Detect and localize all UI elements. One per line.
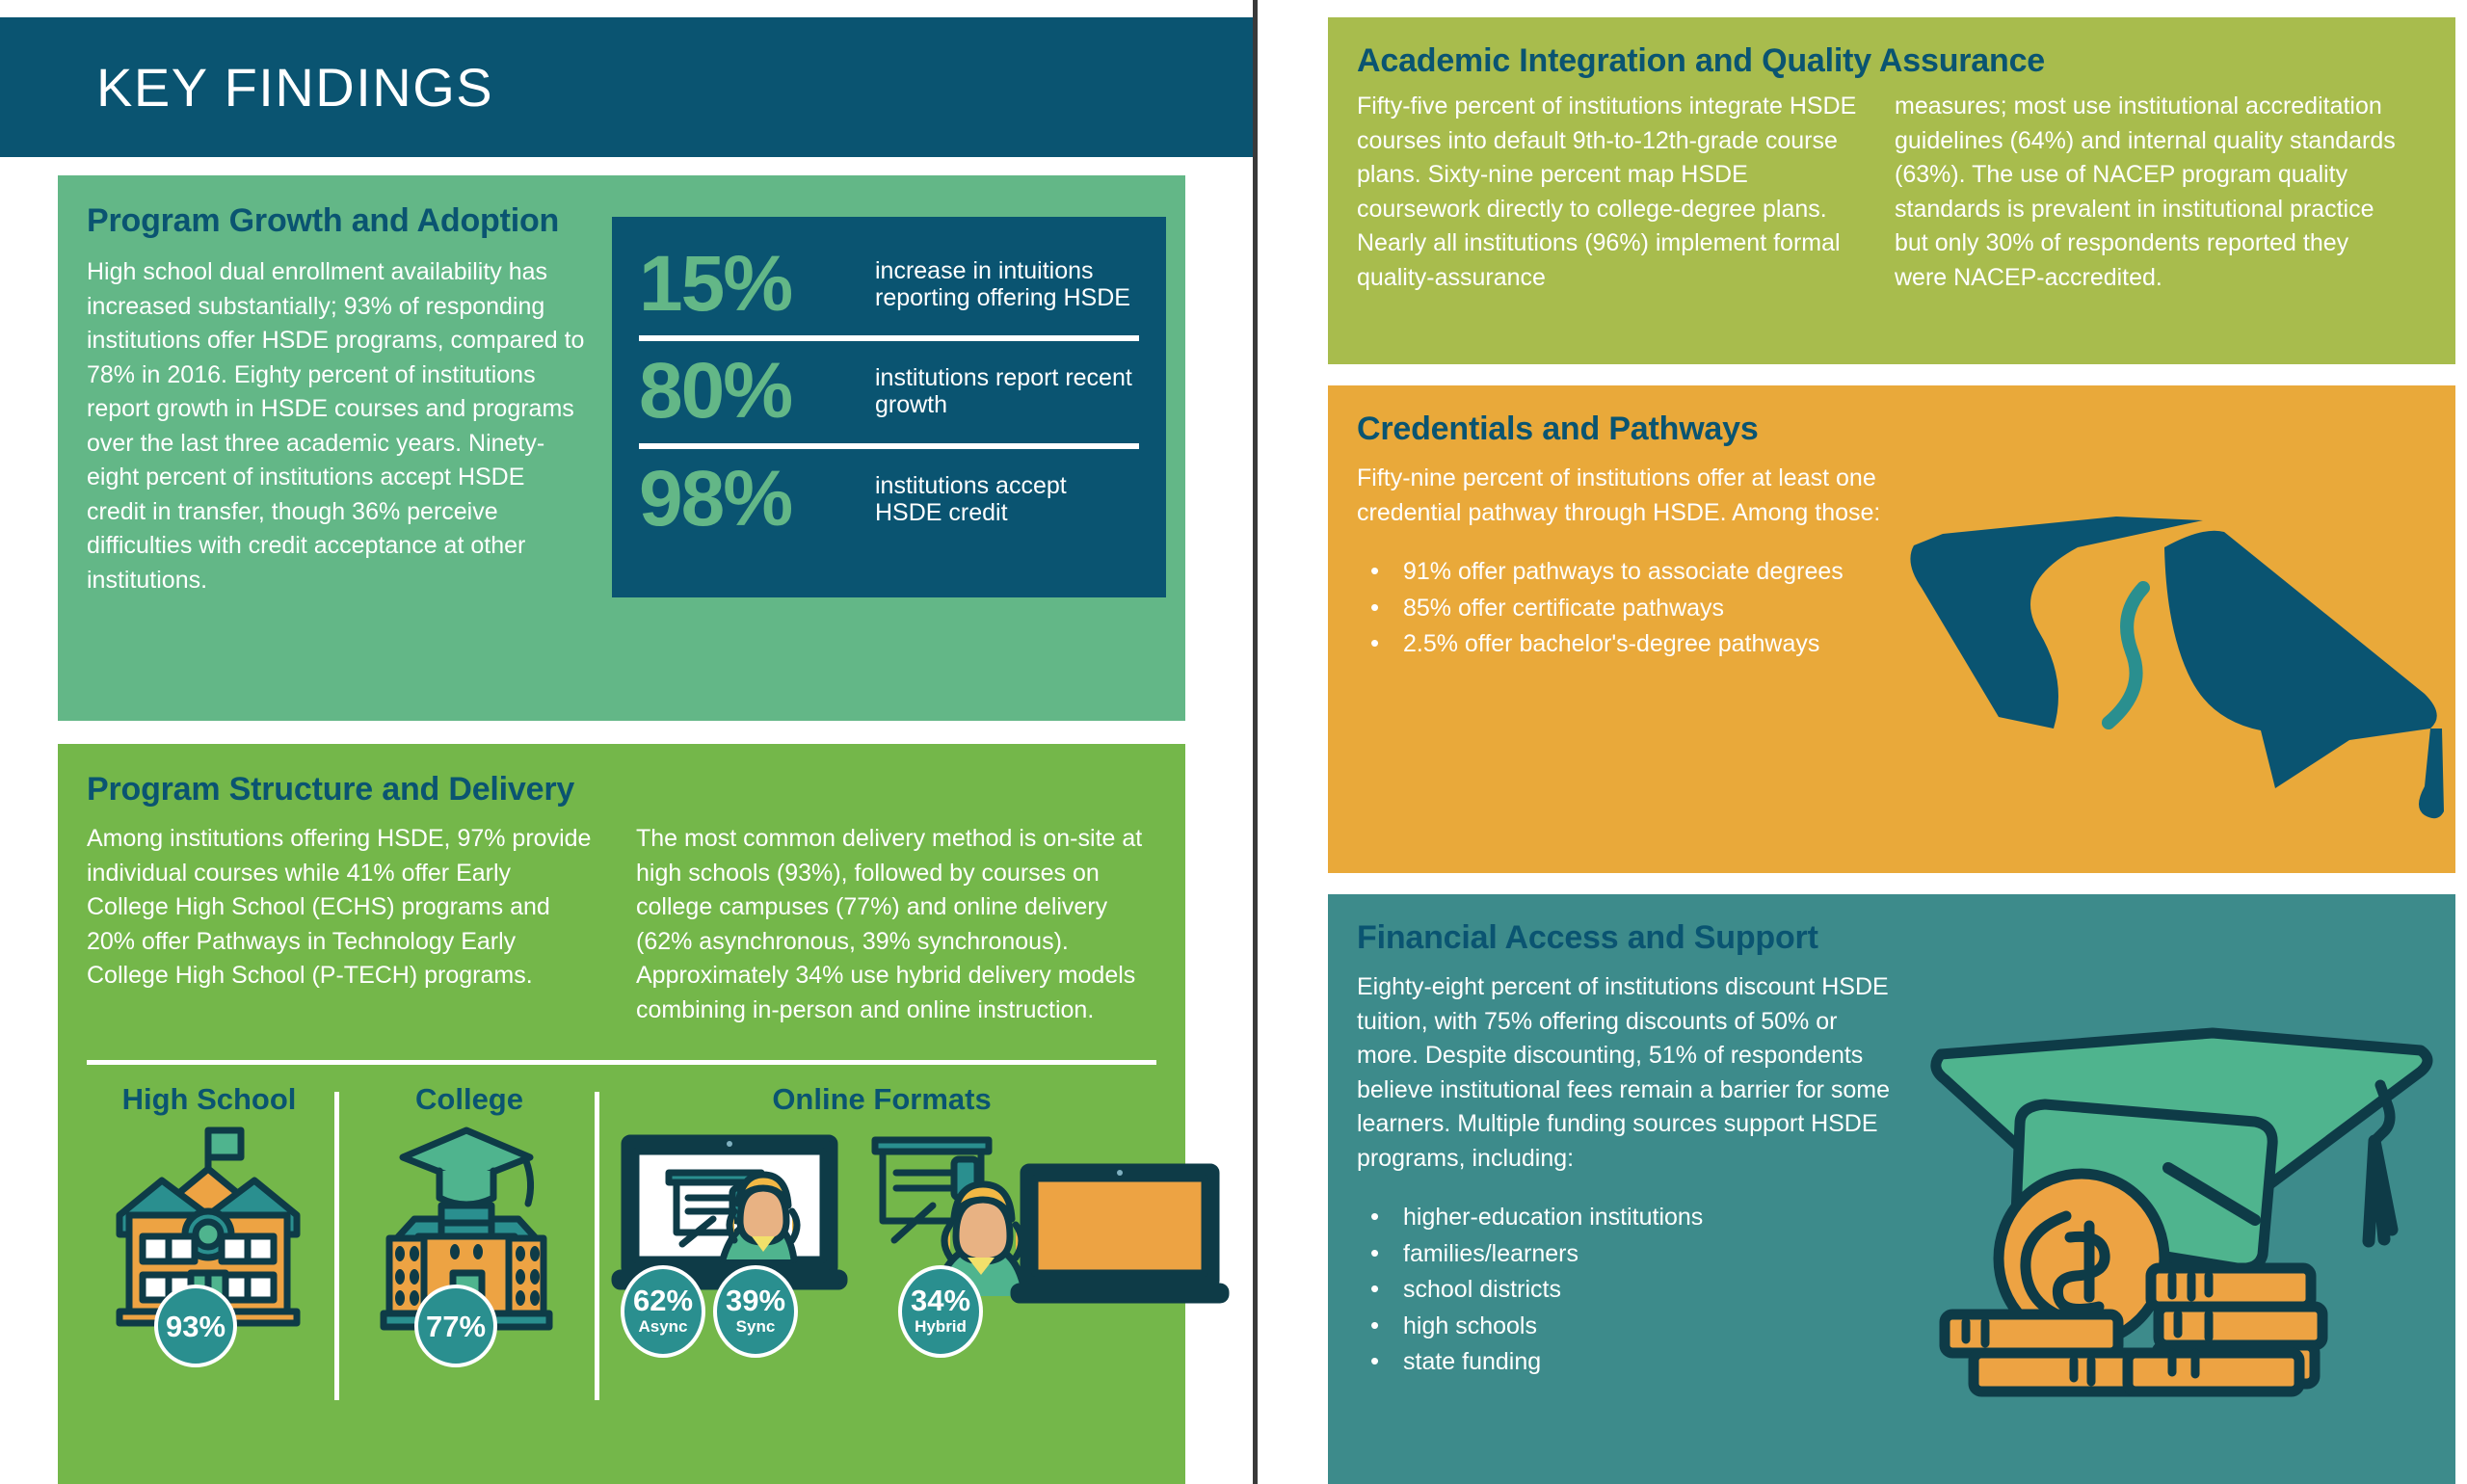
segment-title-college: College (339, 1082, 599, 1117)
list-item: families/learners (1357, 1237, 2427, 1272)
badge-sublabel: Sync (736, 1317, 776, 1337)
stat-value: 98% (639, 463, 875, 535)
key-findings-header: KEY FINDINGS (0, 17, 1253, 157)
stat-label: increase in intuitions reporting offerin… (875, 257, 1139, 311)
academic-body-right: measures; most use institutional accredi… (1895, 90, 2396, 295)
infographic-page: KEY FINDINGS Program Growth and Adoption… (0, 0, 2467, 1484)
list-item: 91% offer pathways to associate degrees (1357, 555, 2427, 590)
program-growth-card: Program Growth and Adoption High school … (58, 175, 1185, 721)
school-building-icon: 93% (79, 1123, 339, 1364)
badge-value: 77% (426, 1312, 486, 1341)
list-item: 2.5% offer bachelor's-degree pathways (1357, 627, 2427, 662)
badge-async: 62% Async (621, 1265, 705, 1358)
badge-high-school: 93% (154, 1285, 237, 1367)
list-item: state funding (1357, 1345, 2427, 1380)
column-divider (1253, 0, 1258, 1484)
program-structure-card: Program Structure and Delivery Among ins… (58, 744, 1185, 1484)
list-item: school districts (1357, 1273, 2427, 1308)
badge-sublabel: Hybrid (915, 1317, 967, 1337)
financial-access-card: Financial Access and Support Eighty-eigh… (1328, 894, 2455, 1484)
badge-sublabel: Async (638, 1317, 687, 1337)
program-structure-body-left: Among institutions offering HSDE, 97% pr… (87, 822, 597, 994)
stat-row: 15% increase in intuitions reporting off… (639, 238, 1139, 331)
segment-title-online: Online Formats (599, 1082, 1164, 1117)
badge-college: 77% (414, 1285, 497, 1367)
stat-divider (639, 443, 1139, 449)
credentials-bullet-list: 91% offer pathways to associate degrees … (1357, 555, 2427, 662)
academic-body-left: Fifty-five percent of institutions integ… (1357, 90, 1858, 295)
delivery-segment-college: College (339, 1076, 599, 1423)
financial-heading: Financial Access and Support (1357, 919, 2427, 957)
list-item: high schools (1357, 1310, 2427, 1344)
stat-value: 80% (639, 355, 875, 427)
delivery-segment-online: Online Formats (599, 1076, 1164, 1423)
badge-sync: 39% Sync (713, 1265, 798, 1358)
graduation-cap-pathway-icon (1885, 488, 2463, 873)
delivery-divider (87, 1060, 1156, 1065)
academic-integration-heading: Academic Integration and Quality Assuran… (1357, 42, 2427, 80)
badge-value: 62% (633, 1285, 693, 1315)
badge-value: 93% (166, 1312, 225, 1341)
program-growth-body: High school dual enrollment availability… (87, 255, 589, 597)
badge-value: 34% (911, 1285, 970, 1315)
stat-label: institutions accept HSDE credit (875, 472, 1139, 526)
stat-value: 15% (639, 248, 875, 320)
page-title: KEY FINDINGS (0, 56, 493, 119)
stat-label: institutions report recent growth (875, 364, 1139, 418)
segment-title-high-school: High School (79, 1082, 339, 1117)
badge-value: 39% (726, 1285, 785, 1315)
program-structure-heading: Program Structure and Delivery (87, 771, 1185, 808)
delivery-segment-high-school: High School (79, 1076, 339, 1423)
academic-integration-card: Academic Integration and Quality Assuran… (1328, 17, 2455, 364)
stat-row: 80% institutions report recent growth (639, 345, 1139, 438)
college-building-icon: 77% (339, 1123, 599, 1364)
stat-row: 98% institutions accept HSDE credit (639, 453, 1139, 546)
stat-divider (639, 335, 1139, 341)
financial-body: Eighty-eight percent of institutions dis… (1357, 970, 1897, 1176)
credentials-body: Fifty-nine percent of institutions offer… (1357, 462, 1897, 530)
program-structure-body-right: The most common delivery method is on-si… (636, 822, 1147, 1027)
delivery-methods-row: High School (58, 1076, 1185, 1423)
badge-hybrid: 34% Hybrid (898, 1265, 983, 1358)
credentials-pathways-card: Credentials and Pathways Fifty-nine perc… (1328, 385, 2455, 873)
growth-stat-panel: 15% increase in intuitions reporting off… (612, 217, 1166, 597)
online-laptop-icon: 62% Async 39% Sync 34% Hybrid (599, 1123, 1164, 1364)
list-item: 85% offer certificate pathways (1357, 592, 2427, 626)
credentials-heading: Credentials and Pathways (1357, 411, 2427, 448)
list-item: higher-education institutions (1357, 1201, 2427, 1235)
financial-bullet-list: higher-education institutions families/l… (1357, 1201, 2427, 1380)
